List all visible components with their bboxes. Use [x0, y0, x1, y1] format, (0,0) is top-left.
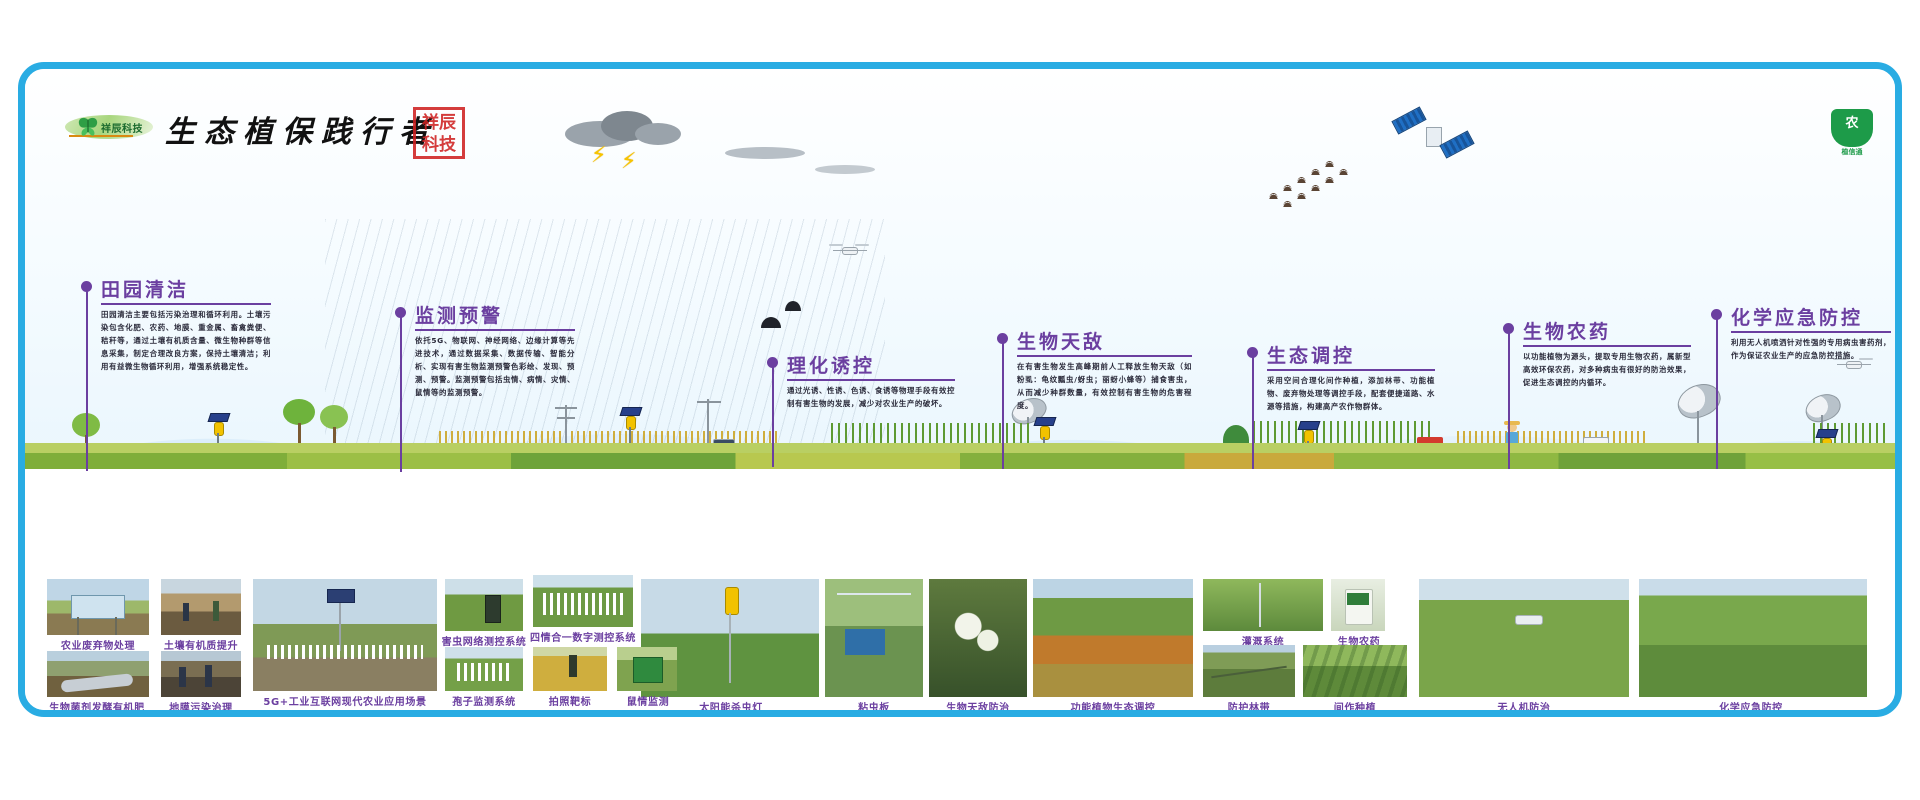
bird-icon: [1297, 193, 1306, 199]
page-title: 生态植保践行者: [165, 107, 438, 151]
gallery-caption: 农业废弃物处理: [35, 637, 161, 652]
gallery-photo: [445, 579, 523, 631]
gallery-item[interactable]: [161, 579, 241, 635]
callout-body: 在有害生物发生高峰期前人工释放生物天敌（如粉虱：龟纹瓢虫/蚜虫；丽蚜小蜂等）捕食…: [1017, 361, 1192, 413]
gallery-item[interactable]: [445, 647, 523, 691]
gallery-photo: [929, 579, 1027, 697]
callout-body: 通过光诱、性诱、色诱、食诱等物理手段有效控制有害生物的发展，减少对农业生产的破坏…: [787, 385, 955, 411]
bird-icon: [1325, 177, 1334, 183]
tree-prop: [317, 405, 353, 447]
gallery-caption: 间作种植: [1297, 699, 1413, 714]
gallery-item[interactable]: [533, 575, 633, 627]
callout-title: 监测预警: [415, 301, 503, 328]
gallery-item[interactable]: [825, 579, 923, 697]
cloud: [815, 165, 875, 174]
gallery-caption: 化学应急防控: [1631, 699, 1871, 714]
poster-frame: ⚡ ⚡: [18, 62, 1902, 717]
bird-icon: [1297, 177, 1306, 183]
lightning-icon: ⚡: [591, 145, 606, 167]
callout-stem: [1716, 319, 1718, 469]
gallery-item[interactable]: [617, 647, 677, 691]
bird-icon: [1283, 185, 1292, 191]
company-seal: 祥辰科技: [413, 107, 465, 159]
gallery-item[interactable]: [1203, 579, 1323, 631]
bird-icon: [1339, 169, 1348, 175]
callout-stem: [1508, 333, 1510, 469]
field-band: [25, 453, 1895, 469]
logo-text: 祥辰科技: [101, 120, 143, 135]
gallery-caption: 鼠情监测: [609, 693, 687, 708]
callout-rule: [1523, 345, 1691, 347]
callout-body: 田园清洁主要包括污染治理和循环利用。土壤污染包含化肥、农药、地膜、重金属、畜禽粪…: [101, 309, 271, 374]
callout-rule: [1267, 369, 1435, 371]
callout-body: 采用空间合理化间作种植，添加林带、功能植物、废弃物处理等调控手段，配套便捷道路、…: [1267, 375, 1435, 414]
gallery-photo: [161, 579, 241, 635]
gallery-caption: 四情合一数字测控系统: [513, 629, 653, 644]
tree-prop: [279, 399, 319, 445]
drone-icon: [829, 241, 869, 259]
gallery-photo: [1639, 579, 1867, 697]
gallery-photo: [1203, 579, 1323, 631]
callout-stem: [1252, 357, 1254, 469]
bird-icon: [1269, 193, 1278, 199]
gallery-item[interactable]: [533, 647, 607, 691]
callout-title: 生物天敌: [1017, 327, 1105, 354]
gallery-item[interactable]: [1419, 579, 1629, 697]
callout-stem: [400, 317, 402, 472]
gallery-caption: 土壤有机质提升: [155, 637, 247, 652]
callout-rule: [1731, 331, 1891, 333]
gallery-photo: [1033, 579, 1193, 697]
callout-rule: [101, 303, 271, 305]
gallery-photo: [161, 651, 241, 697]
storm-cloud: [635, 123, 681, 145]
callout-title: 化学应急防控: [1731, 303, 1863, 330]
photo-gallery: CTU 农业废弃物处理 土壤有机质提升 5G+工业互联网现代农业应用场景 害虫网…: [25, 569, 1895, 717]
callout-stem: [1002, 343, 1004, 469]
callout-title: 理化诱控: [787, 351, 875, 378]
callout-rule: [1017, 355, 1192, 357]
callout-rule: [415, 329, 575, 331]
gallery-item[interactable]: [1033, 579, 1193, 697]
callout-body: 以功能植物为源头，提取专用生物农药，属新型高效环保农药，对多种病虫有很好的防治效…: [1523, 351, 1691, 390]
cloud: [725, 147, 805, 159]
gallery-photo: [1419, 579, 1629, 697]
bird-icon: [1283, 201, 1292, 207]
gallery-caption: 无人机防治: [1411, 699, 1637, 714]
gallery-item[interactable]: [161, 651, 241, 697]
gallery-item[interactable]: [1331, 579, 1385, 631]
gallery-item[interactable]: [253, 579, 437, 691]
badge-label: 植信通: [1831, 147, 1873, 157]
gallery-caption: 生物天敌防治: [923, 699, 1033, 714]
satellite-icon: [1393, 109, 1473, 165]
gallery-caption: 生物菌剂发酵有机肥: [31, 699, 163, 714]
callout-stem: [772, 367, 774, 467]
gallery-item[interactable]: [929, 579, 1027, 697]
gallery-caption: 孢子监测系统: [431, 693, 537, 708]
gallery-caption: 5G+工业互联网现代农业应用场景: [247, 693, 443, 708]
callout-body: 利用无人机喷洒针对性强的专用病虫害药剂，作为保证农业生产的应急防控措施。: [1731, 337, 1891, 363]
gallery-caption: 功能植物生态调控: [1027, 699, 1199, 714]
callout-body: 依托5G、物联网、神经网络、边缘计算等先进技术，通过数据采集、数据传输、智能分析…: [415, 335, 575, 400]
butterfly-icon: [77, 117, 99, 137]
bird-icon: [1311, 169, 1320, 175]
gallery-item[interactable]: [1639, 579, 1867, 697]
lightning-icon: ⚡: [621, 151, 636, 173]
gallery-caption: 拍照靶标: [525, 693, 615, 708]
bird-icon: [1325, 161, 1334, 167]
callout-stem: [86, 291, 88, 471]
gallery-item[interactable]: [47, 579, 149, 635]
gallery-caption: 粘虫板: [821, 699, 927, 714]
gallery-caption: 地膜污染治理: [155, 699, 247, 714]
certification-badge: 农 植信通: [1831, 109, 1873, 155]
callout-title: 生态调控: [1267, 341, 1355, 368]
bird-icon: [1311, 185, 1320, 191]
company-logo: 祥辰科技: [65, 113, 153, 141]
gallery-item[interactable]: [1203, 645, 1295, 697]
callout-title: 田园清洁: [101, 275, 189, 302]
gallery-item[interactable]: [1303, 645, 1407, 697]
gallery-caption: 防护林带: [1197, 699, 1301, 714]
callout-title: 生物农药: [1523, 317, 1611, 344]
callout-rule: [787, 379, 955, 381]
gallery-item[interactable]: [445, 579, 523, 631]
rain-overlay: [325, 219, 885, 449]
badge-mark: 农: [1831, 112, 1873, 131]
gallery-item[interactable]: [47, 651, 149, 697]
